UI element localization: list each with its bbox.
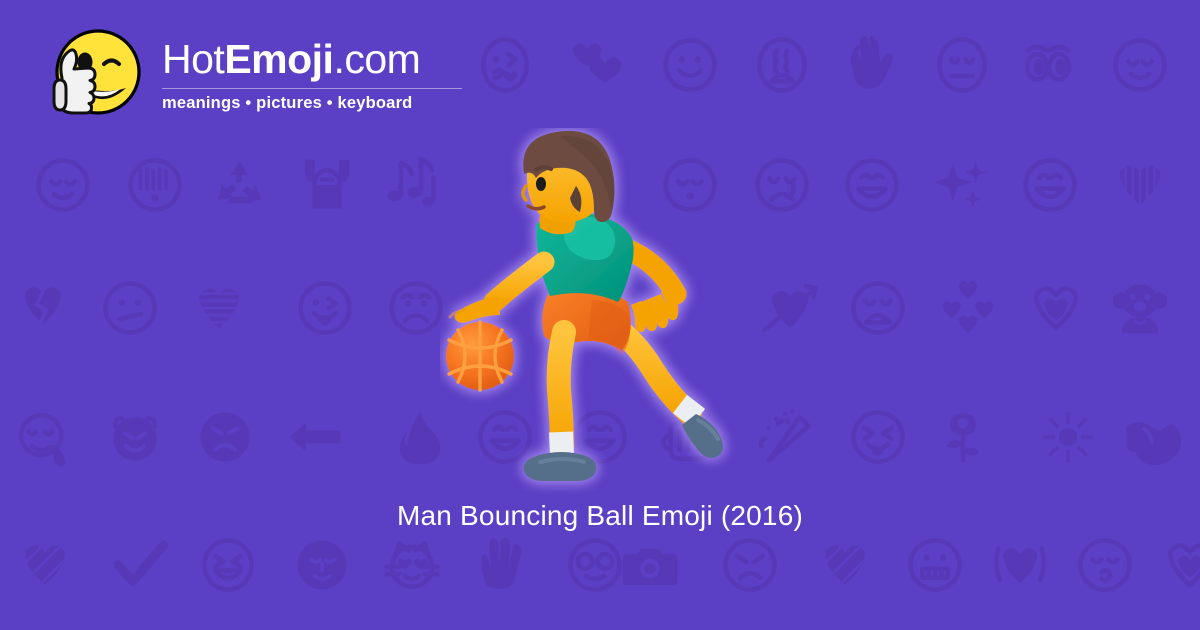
logo-divider [162, 88, 462, 89]
heart-outline-icon [1161, 536, 1200, 594]
confused-face-icon [101, 279, 159, 337]
relieved-face-icon [34, 156, 92, 214]
relieved-face-icon [1111, 36, 1169, 94]
grinning-teeth-face-icon [906, 536, 964, 594]
kissing-closed-eyes-icon [476, 36, 534, 94]
recycling-icon [211, 156, 269, 214]
logo-text-block: HotEmoji.com meanings • pictures • keybo… [162, 39, 462, 113]
persevering-face-icon [721, 536, 779, 594]
wordmark-part-hot: Hot [162, 36, 224, 82]
rose-icon [934, 408, 992, 466]
full-moon-face-icon [293, 536, 351, 594]
nerd-face-icon [566, 536, 624, 594]
squinting-tongue-face-icon [849, 408, 907, 466]
striped-heart-icon [190, 279, 248, 337]
winking-smiley-thumbs-up-icon [40, 26, 148, 126]
striped-heart-icon [1111, 156, 1169, 214]
monkey-icon [1111, 279, 1169, 337]
wordmark-part-emoji: Emoji [224, 36, 333, 82]
laughing-face-icon [199, 536, 257, 594]
worried-face-icon [387, 279, 445, 337]
smiling-cat-hearts-icon [383, 536, 441, 594]
person-raising-hands-icon [298, 156, 356, 214]
abacus-icon [126, 156, 184, 214]
flexed-biceps-icon [1123, 408, 1181, 466]
page-title: Man Bouncing Ball Emoji (2016) [0, 500, 1200, 532]
wordmark-part-com: .com [333, 36, 420, 82]
beating-heart-icon [991, 536, 1049, 594]
eyes-icon [1019, 36, 1077, 94]
angry-face-icon [196, 408, 254, 466]
smiling-devil-icon [106, 408, 164, 466]
site-logo[interactable]: HotEmoji.com meanings • pictures • keybo… [40, 26, 462, 126]
grinning-face-icon [1021, 156, 1079, 214]
face-with-steam-icon [753, 36, 811, 94]
raised-hand-icon [471, 536, 529, 594]
slightly-smiling-face-icon [661, 36, 719, 94]
left-arrow-icon [286, 408, 344, 466]
striped-heart-icon [16, 536, 74, 594]
heart-outline-icon [1027, 279, 1085, 337]
camera-icon [621, 536, 679, 594]
kissing-face-icon [1076, 536, 1134, 594]
check-mark-icon [111, 536, 169, 594]
site-tagline: meanings • pictures • keyboard [162, 94, 462, 113]
ok-hand-icon [843, 36, 901, 94]
site-wordmark: HotEmoji.com [162, 39, 462, 81]
neutral-face-icon [933, 36, 991, 94]
grinning-face-icon [843, 156, 901, 214]
face-with-hand-icon [14, 408, 72, 466]
revolving-hearts-icon [939, 279, 997, 337]
two-hearts-icon [569, 36, 627, 94]
broken-heart-icon [14, 279, 72, 337]
winking-tongue-face-icon [296, 279, 354, 337]
man-bouncing-ball-emoji [440, 128, 770, 494]
weary-face-icon [849, 279, 907, 337]
striped-heart-icon [816, 536, 874, 594]
sun-icon [1039, 408, 1097, 466]
musical-notes-icon [381, 156, 439, 214]
sparkles-icon [933, 156, 991, 214]
